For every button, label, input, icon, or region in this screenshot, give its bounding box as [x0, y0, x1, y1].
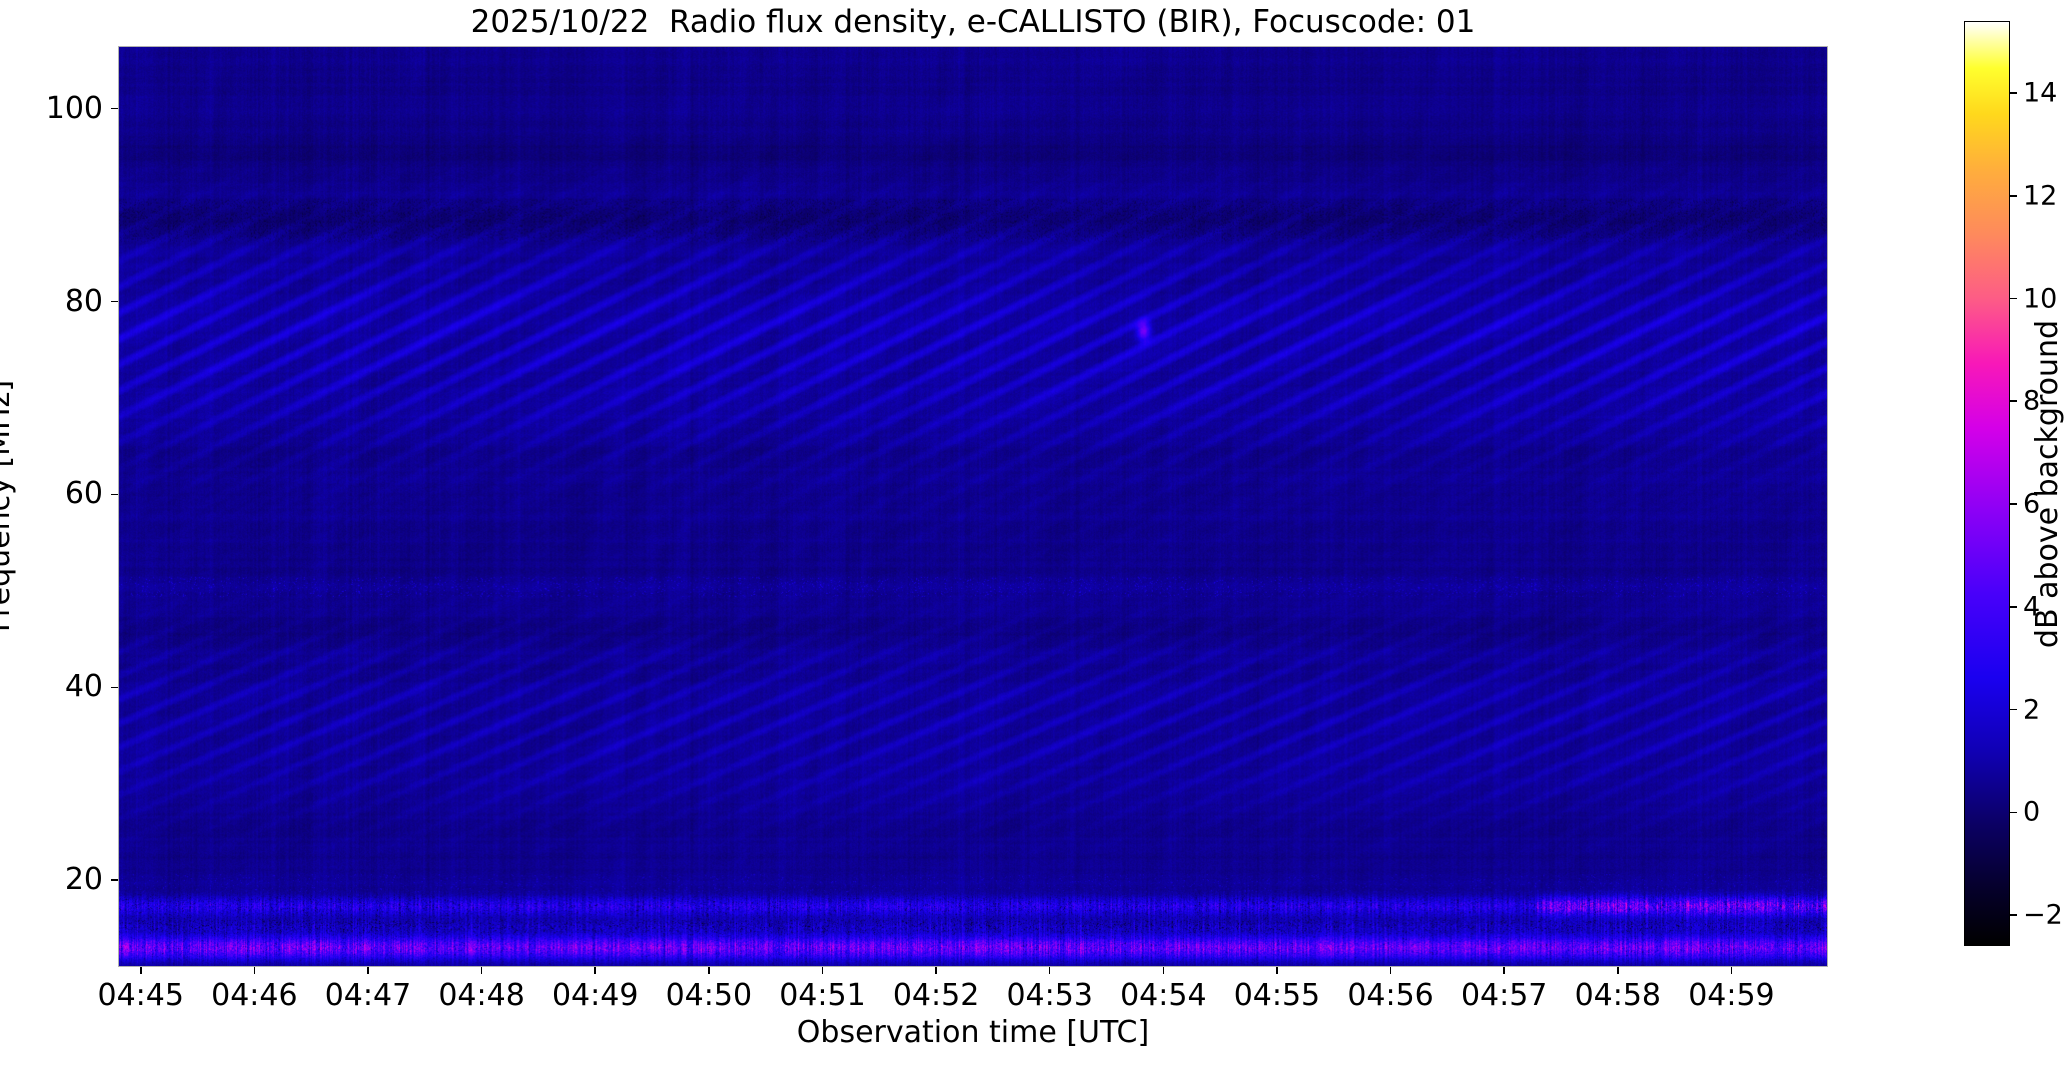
x-axis-tick-mark: [140, 967, 142, 974]
colorbar-tick-mark: [2010, 503, 2017, 505]
x-axis-tick-label: 04:47: [325, 981, 411, 1011]
x-axis-label: Observation time [UTC]: [118, 1016, 1828, 1050]
colorbar-tick-mark: [2010, 400, 2017, 402]
y-axis-tick-mark: [111, 687, 118, 689]
x-axis-tick-label: 04:56: [1347, 981, 1433, 1011]
colorbar-gradient[interactable]: [1964, 21, 2010, 946]
spectrogram-axes[interactable]: [118, 46, 1828, 967]
y-axis-tick-label: 60: [8, 479, 103, 509]
x-axis-tick-label: 04:49: [552, 981, 638, 1011]
x-axis-tick-mark: [822, 967, 824, 974]
colorbar-tick-label: 14: [2023, 79, 2057, 106]
x-axis-tick-mark: [1617, 967, 1619, 974]
y-axis-tick-label: 100: [8, 94, 103, 124]
x-axis-tick-label: 04:46: [211, 981, 297, 1011]
y-axis-tick-mark: [111, 108, 118, 110]
x-axis-tick-label: 04:55: [1234, 981, 1320, 1011]
y-axis-tick-mark: [111, 494, 118, 496]
x-axis-tick-mark: [1276, 967, 1278, 974]
x-axis-tick-label: 04:53: [1006, 981, 1092, 1011]
x-axis-tick-label: 04:58: [1575, 981, 1661, 1011]
colorbar-tick-label: −2: [2023, 902, 2063, 929]
y-axis-tick-label: 80: [8, 287, 103, 317]
x-axis-tick-mark: [935, 967, 937, 974]
x-axis-tick-mark: [1163, 967, 1165, 974]
colorbar-tick-mark: [2010, 812, 2017, 814]
y-axis-tick-mark: [111, 879, 118, 881]
colorbar-tick-label: 10: [2023, 285, 2057, 312]
colorbar-tick-label: 12: [2023, 182, 2057, 209]
x-axis-tick-mark: [481, 967, 483, 974]
colorbar-tick-mark: [2010, 709, 2017, 711]
colorbar-label: dB above background: [2033, 320, 2063, 648]
y-axis-tick-mark: [111, 301, 118, 303]
colorbar-tick-label: 2: [2023, 696, 2040, 723]
x-axis-tick-mark: [1390, 967, 1392, 974]
figure-canvas: 2025/10/22 Radio flux density, e-CALLIST…: [0, 0, 2066, 1067]
x-axis-tick-mark: [1049, 967, 1051, 974]
y-axis-tick-label: 20: [8, 865, 103, 895]
x-axis-tick-label: 04:51: [779, 981, 865, 1011]
colorbar-tick-mark: [2010, 298, 2017, 300]
x-axis-tick-label: 04:45: [97, 981, 183, 1011]
x-axis-tick-mark: [594, 967, 596, 974]
x-axis-tick-mark: [1503, 967, 1505, 974]
x-axis-tick-label: 04:48: [438, 981, 524, 1011]
x-axis-tick-mark: [367, 967, 369, 974]
spectrogram-image[interactable]: [119, 47, 1827, 966]
colorbar-tick-mark: [2010, 195, 2017, 197]
colorbar-tick-label: 0: [2023, 799, 2040, 826]
y-axis-tick-label: 40: [8, 672, 103, 702]
colorbar-tick-mark: [2010, 914, 2017, 916]
y-axis-label: Frequency [MHz]: [0, 380, 15, 632]
colorbar-tick-mark: [2010, 92, 2017, 94]
x-axis-tick-mark: [708, 967, 710, 974]
x-axis-tick-label: 04:59: [1688, 981, 1774, 1011]
page-title: 2025/10/22 Radio flux density, e-CALLIST…: [118, 2, 1828, 42]
x-axis-tick-label: 04:57: [1461, 981, 1547, 1011]
x-axis-tick-label: 04:54: [1120, 981, 1206, 1011]
x-axis-tick-mark: [1731, 967, 1733, 974]
x-axis-tick-label: 04:52: [893, 981, 979, 1011]
x-axis-tick-label: 04:50: [666, 981, 752, 1011]
x-axis-tick-mark: [254, 967, 256, 974]
colorbar-tick-mark: [2010, 606, 2017, 608]
